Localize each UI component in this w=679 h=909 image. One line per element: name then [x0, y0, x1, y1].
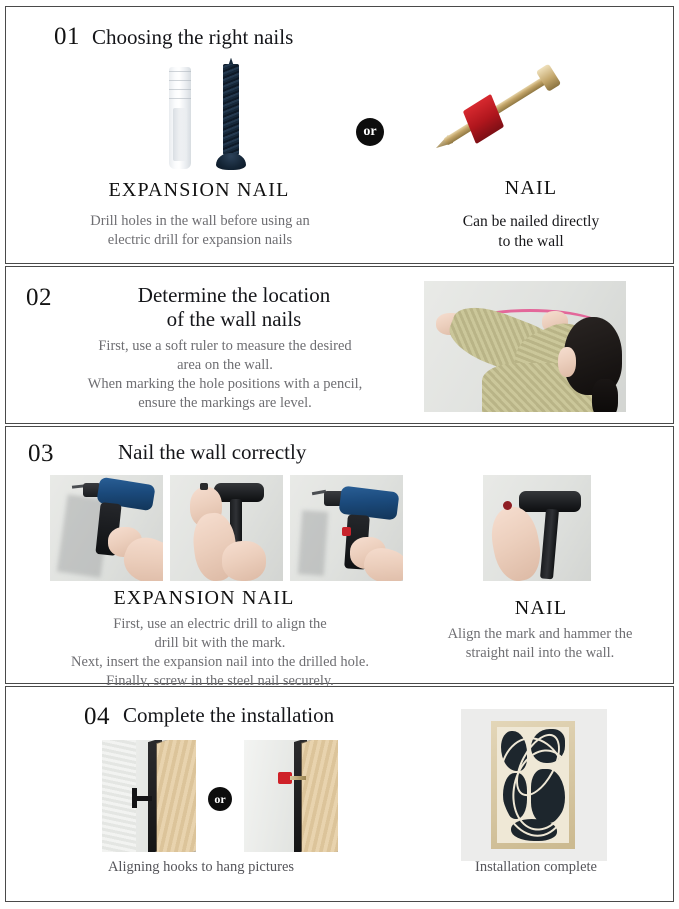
- wall-plug-illustration: [169, 67, 191, 169]
- nail-shank: [443, 73, 553, 146]
- nail-label-03: NAIL: [446, 597, 636, 620]
- instruction-sheet: 01 Choosing the right nails or EXPANSION…: [0, 0, 679, 909]
- red-washer-detail: [342, 527, 351, 536]
- concrete-nail-illustration: [433, 56, 564, 163]
- art-canvas: [497, 727, 569, 843]
- screw-illustration: [216, 64, 246, 170]
- or-badge: or: [208, 787, 232, 811]
- photo-frame-on-hook: [102, 740, 196, 852]
- ear-cheek: [558, 347, 576, 377]
- step-panel-03: 03 Nail the wall correctly: [5, 426, 674, 684]
- textured-wall: [102, 740, 136, 852]
- wood-frame-edge: [157, 740, 196, 852]
- step-title-04: Complete the installation: [123, 704, 334, 728]
- step-title-01: Choosing the right nails: [92, 26, 293, 50]
- nail-desc-03: Align the mark and hammer the straight n…: [414, 625, 666, 663]
- step-panel-01: 01 Choosing the right nails or EXPANSION…: [5, 6, 674, 264]
- nail-red-washer: [462, 94, 503, 144]
- caption-aligning-hooks: Aligning hooks to hang pictures: [66, 859, 336, 876]
- photo-drill-screw-into-plug: [290, 475, 403, 581]
- screw-head: [216, 153, 246, 170]
- step-number-01: 01: [54, 24, 80, 49]
- step-number-02: 02: [26, 285, 52, 310]
- photo-frame-on-red-nail: [244, 740, 338, 852]
- expansion-nail-desc-03: First, use an electric drill to align th…: [10, 615, 430, 692]
- nail-desc-01: Can be nailed directly to the wall: [401, 212, 661, 253]
- step-desc-02: First, use a soft ruler to measure the d…: [20, 337, 430, 414]
- screw-shank: [223, 64, 239, 155]
- step-number-03: 03: [28, 441, 54, 466]
- photo-drill-into-wall: [50, 475, 163, 581]
- expansion-nail-label-03: EXPANSION NAIL: [34, 587, 374, 610]
- photo-hammer-nail-into-wall: [483, 475, 591, 581]
- photo-hammer-plug-into-wall: [170, 475, 283, 581]
- photo-shadow: [298, 510, 328, 576]
- step-panel-04: 04 Complete the installation or: [5, 686, 674, 902]
- photo-person-measuring-wall: [424, 281, 626, 412]
- hand-on-hammer: [222, 541, 266, 581]
- caption-installation-complete: Installation complete: [436, 859, 636, 876]
- expansion-nail-label-01: EXPANSION NAIL: [34, 179, 364, 202]
- step-title-03: Nail the wall correctly: [118, 441, 306, 465]
- expansion-nail-desc-01: Drill holes in the wall before using an …: [30, 212, 370, 250]
- wood-frame-edge: [302, 740, 338, 852]
- ponytail: [592, 379, 618, 412]
- nail-head-detail: [503, 501, 512, 510]
- wall-hook-stem: [132, 788, 137, 808]
- plug-in-hand: [200, 483, 208, 490]
- step-panel-02: 02 Determine the location of the wall na…: [5, 266, 674, 424]
- step-number-04: 04: [84, 704, 110, 729]
- photo-framed-artwork: [461, 709, 607, 861]
- nail-label-01: NAIL: [406, 177, 656, 200]
- step-title-02: Determine the location of the wall nails: [104, 284, 364, 331]
- or-badge: or: [356, 118, 384, 146]
- nail-shank: [290, 776, 306, 780]
